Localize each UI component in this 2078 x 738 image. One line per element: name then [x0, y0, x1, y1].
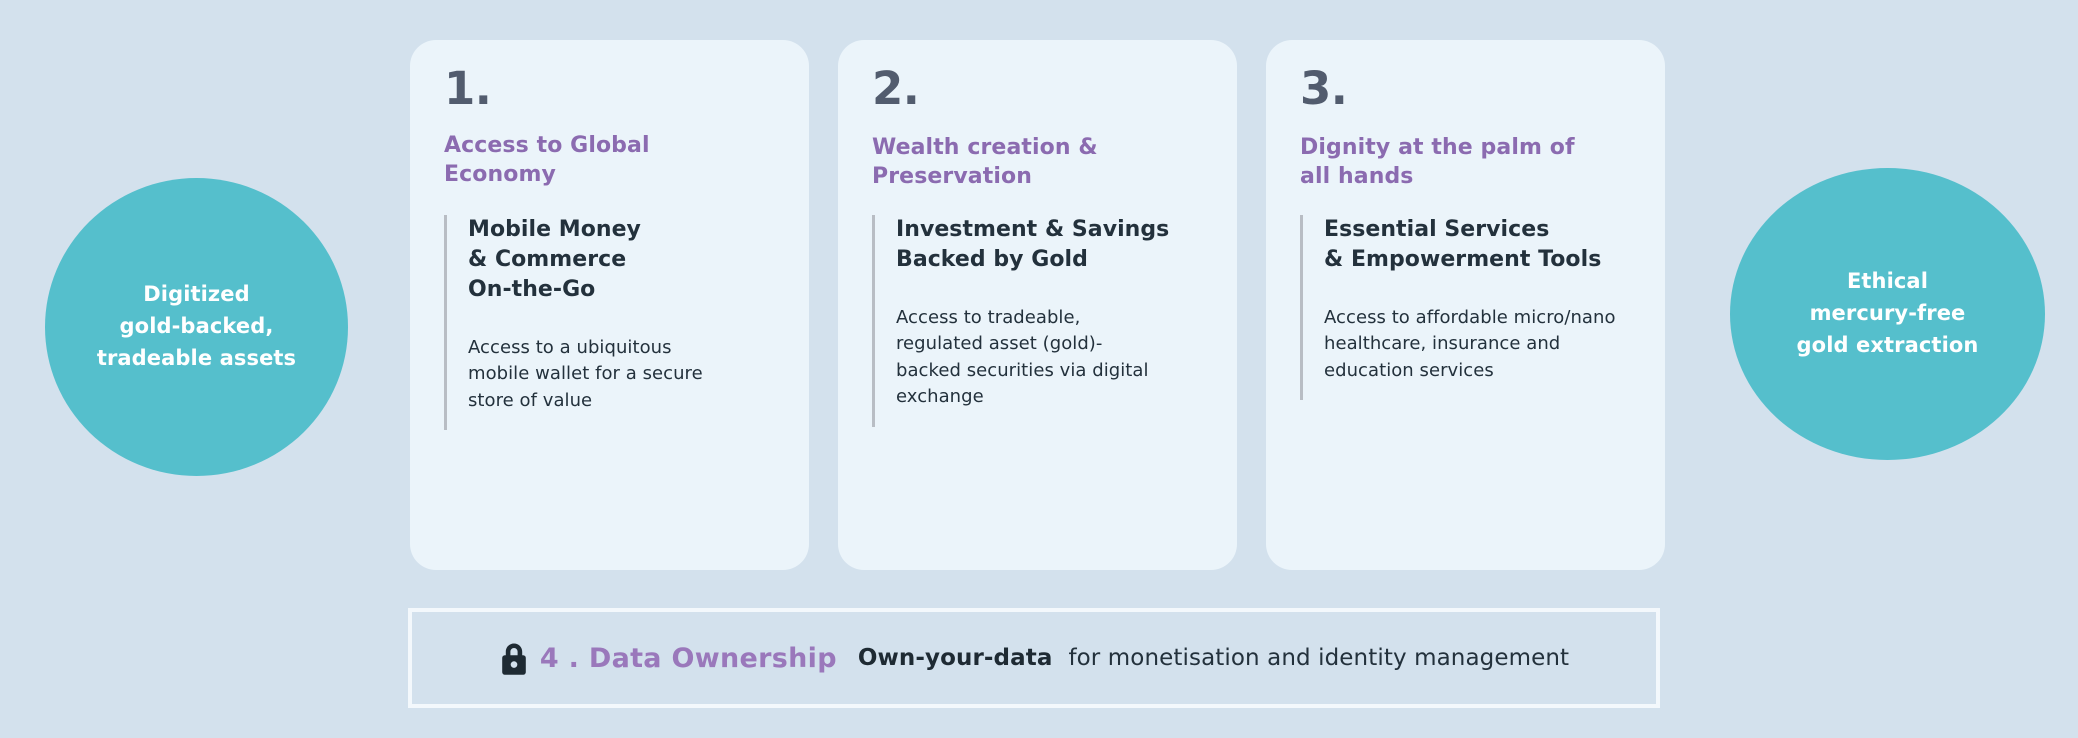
card-number: 2. — [872, 66, 1203, 111]
card-number: 3. — [1300, 66, 1631, 111]
card-body: Mobile Money & Commerce On-the-Go Access… — [444, 215, 775, 430]
card-description: Access to tradeable, regulated asset (go… — [896, 305, 1203, 427]
footer-data-ownership-bar[interactable]: 4 . Data Ownership Own-your-data for mon… — [408, 608, 1660, 708]
lock-icon — [499, 642, 529, 676]
circle-right-label: Ethical mercury-free gold extraction — [1779, 266, 1997, 362]
card-dignity-at-palm-of-all-hands[interactable]: 3. Dignity at the palm of all hands Esse… — [1266, 40, 1665, 570]
card-wealth-creation-preservation[interactable]: 2. Wealth creation & Preservation Invest… — [838, 40, 1237, 570]
card-description: Access to a ubiquitous mobile wallet for… — [468, 335, 775, 430]
card-body: Essential Services & Empowerment Tools A… — [1300, 215, 1631, 400]
footer-rest-label: for monetisation and identity management — [1068, 645, 1569, 671]
circle-left-label: Digitized gold-backed, tradeable assets — [79, 279, 314, 375]
card-subtitle: Access to Global Economy — [444, 131, 775, 189]
card-body: Investment & Savings Backed by Gold Acce… — [872, 215, 1203, 427]
circle-ethical-gold-extraction: Ethical mercury-free gold extraction — [1730, 168, 2045, 460]
card-subtitle: Wealth creation & Preservation — [872, 133, 1203, 191]
card-subtitle: Dignity at the palm of all hands — [1300, 133, 1631, 191]
card-heading: Investment & Savings Backed by Gold — [896, 215, 1203, 275]
card-number: 1. — [444, 66, 775, 111]
card-heading: Essential Services & Empowerment Tools — [1324, 215, 1631, 275]
card-description: Access to affordable micro/nano healthca… — [1324, 305, 1631, 400]
footer-index-label: 4 . Data Ownership — [540, 643, 837, 674]
cards-container: 1. Access to Global Economy Mobile Money… — [410, 40, 1665, 570]
card-access-to-global-economy[interactable]: 1. Access to Global Economy Mobile Money… — [410, 40, 809, 570]
card-heading: Mobile Money & Commerce On-the-Go — [468, 215, 775, 305]
footer-strong-label: Own-your-data — [858, 645, 1053, 671]
circle-digitized-assets: Digitized gold-backed, tradeable assets — [45, 178, 348, 476]
